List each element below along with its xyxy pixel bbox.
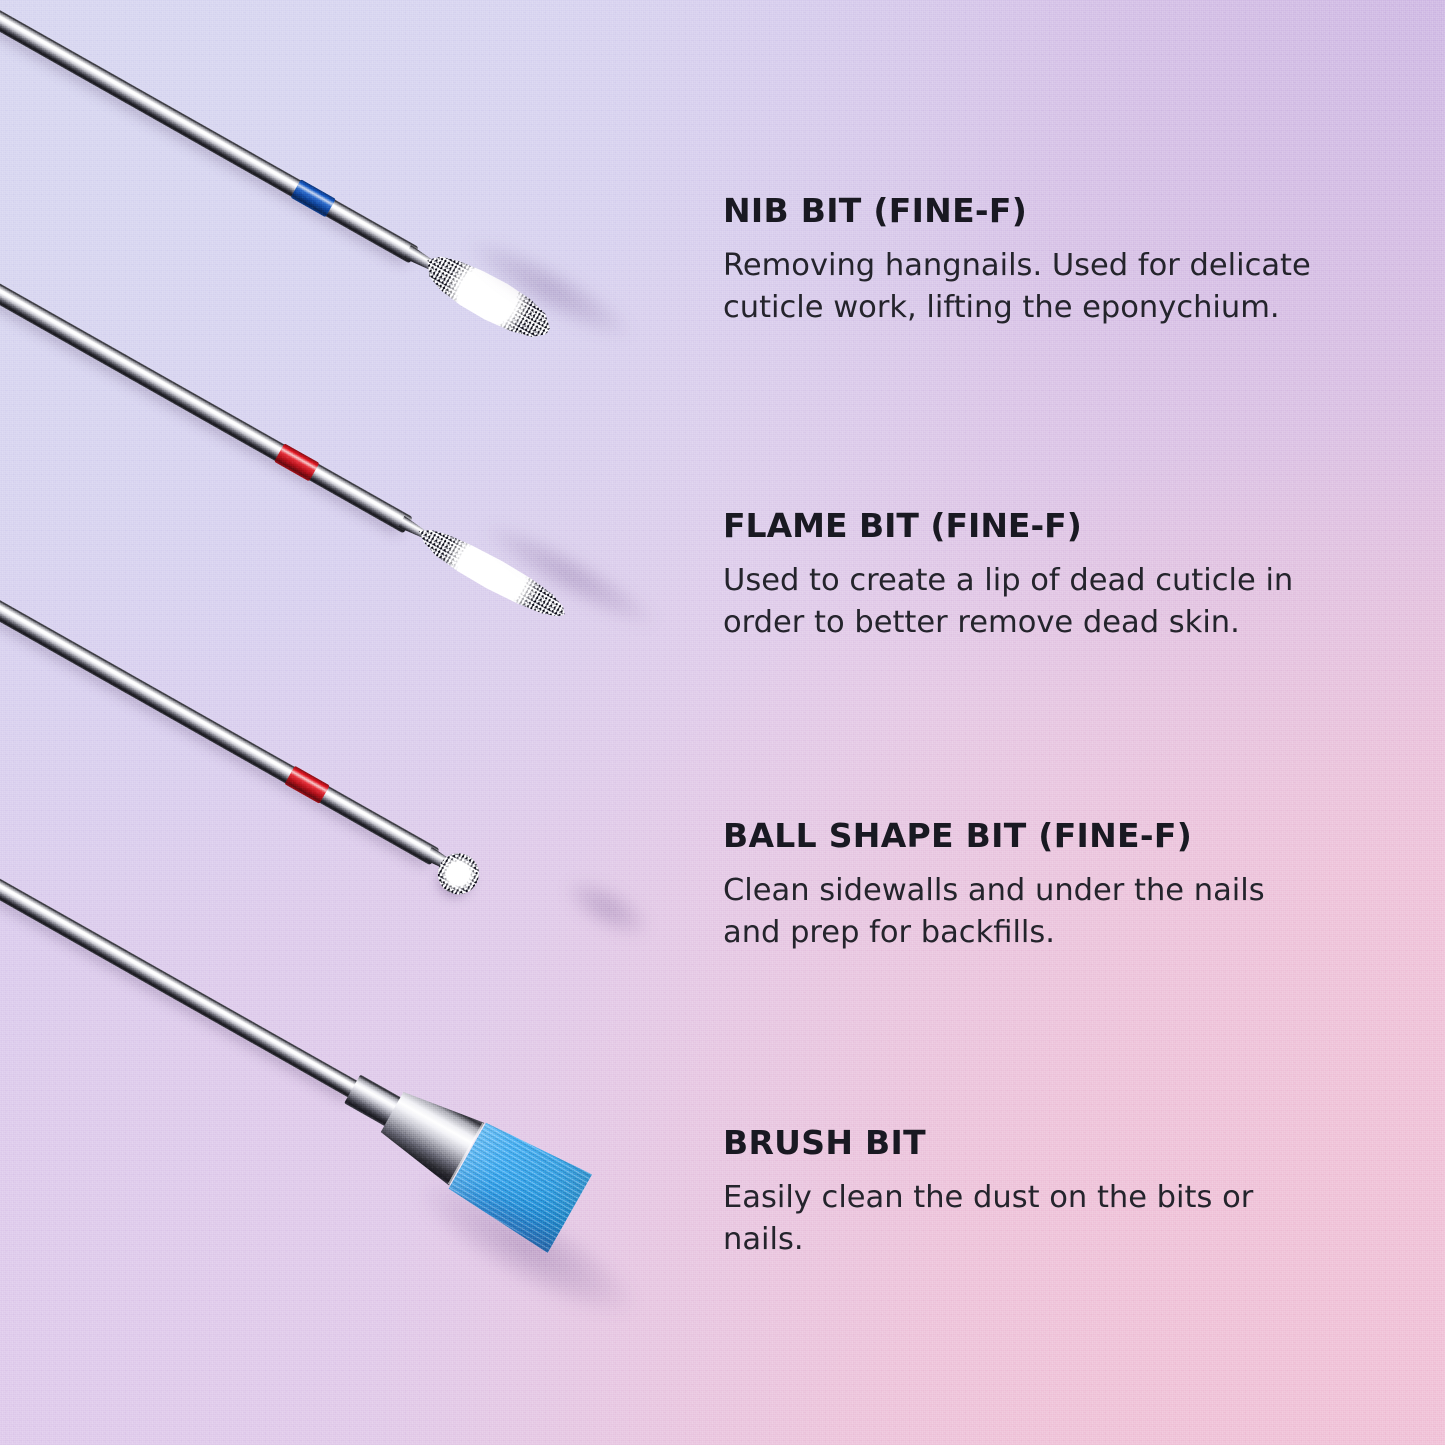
nib-bit-shaft [0, 0, 419, 264]
bit-description-block: BRUSH BIT Easily clean the dust on the b… [723, 1125, 1323, 1261]
bit-description-block: BALL SHAPE BIT (FINE-F) Clean sidewalls … [723, 818, 1323, 954]
bit-description: Clean sidewalls and under the nails and … [723, 870, 1323, 954]
product-infographic-poster: NIB BIT (FINE-F) Removing hangnails. Use… [0, 0, 1445, 1445]
bit-title: BRUSH BIT [723, 1125, 1323, 1161]
brush-bit-shaft [0, 837, 362, 1100]
ball-shape-bit-shaft [0, 563, 440, 865]
nib-bit-icon [0, 0, 497, 315]
bit-description-block: FLAME BIT (FINE-F) Used to create a lip … [723, 508, 1323, 644]
bit-title: BALL SHAPE BIT (FINE-F) [723, 818, 1323, 854]
ball-shape-bit-shadow [556, 867, 658, 949]
bit-title: NIB BIT (FINE-F) [723, 193, 1323, 229]
bit-description: Easily clean the dust on the bits or nai… [723, 1177, 1323, 1261]
bit-description: Used to create a lip of dead cuticle in … [723, 560, 1323, 644]
flame-bit-shaft [0, 243, 413, 533]
ball-shape-bit-icon [0, 555, 514, 915]
bit-title: FLAME BIT (FINE-F) [723, 508, 1323, 544]
bit-description: Removing hangnails. Used for delicate cu… [723, 245, 1323, 329]
bit-description-block: NIB BIT (FINE-F) Removing hangnails. Use… [723, 193, 1323, 329]
